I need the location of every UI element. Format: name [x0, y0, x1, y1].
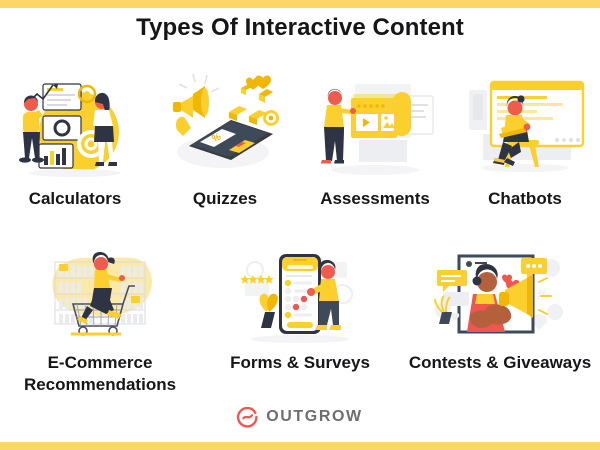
card-label: Calculators	[29, 188, 122, 210]
card-contests-giveaways[interactable]: #	[400, 248, 600, 396]
card-ecommerce-recommendations[interactable]: E-Commerce Recommendations	[0, 248, 200, 396]
card-calculators[interactable]: Calculators	[0, 72, 150, 210]
card-assessments[interactable]: Assessments	[300, 72, 450, 210]
card-label: Chatbots	[488, 188, 562, 210]
illustration-megaphone-social-frame: #	[425, 248, 575, 344]
illustration-person-laptop-window	[459, 72, 591, 180]
brand-name: OUTGROW	[266, 408, 363, 426]
card-chatbots[interactable]: Chatbots	[450, 72, 600, 210]
illustration-phone-survey-person	[225, 248, 375, 344]
card-label: Quizzes	[193, 188, 257, 210]
top-row: Calculators	[0, 72, 600, 210]
illustration-analytics-people	[9, 72, 141, 180]
card-label: E-Commerce Recommendations	[0, 352, 200, 396]
illustration-shopping-cart-aisle	[25, 248, 175, 344]
page-title: Types Of Interactive Content	[0, 14, 600, 42]
bottom-accent-bar	[0, 442, 600, 450]
card-label: Forms & Surveys	[230, 352, 370, 374]
top-accent-bar	[0, 0, 600, 8]
illustration-person-screens	[309, 72, 441, 180]
card-label: Assessments	[320, 188, 430, 210]
brand-logo[interactable]: OUTGROW	[0, 406, 600, 428]
bottom-row: E-Commerce Recommendations	[0, 248, 600, 396]
illustration-megaphone-phone: %	[159, 72, 291, 180]
card-forms-surveys[interactable]: Forms & Surveys	[200, 248, 400, 396]
card-label: Contests & Giveaways	[409, 352, 591, 374]
outgrow-circle-icon	[237, 406, 259, 428]
infographic-page: Types Of Interactive Content	[0, 0, 600, 450]
card-quizzes[interactable]: %	[150, 72, 300, 210]
